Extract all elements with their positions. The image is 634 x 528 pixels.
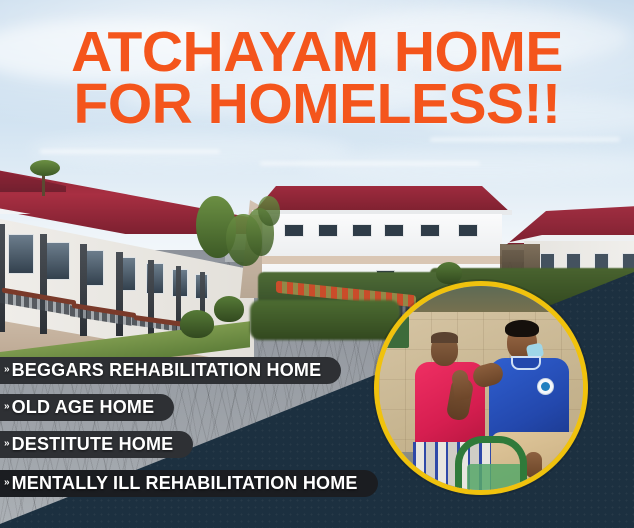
green-chair-frame bbox=[455, 436, 527, 495]
photo-background-strip bbox=[379, 286, 588, 312]
title-line-2: FOR HOMELESS!! bbox=[0, 78, 634, 130]
verandah-column bbox=[0, 224, 5, 332]
volunteer-collar bbox=[511, 356, 541, 370]
volunteer-hand bbox=[525, 452, 542, 478]
window bbox=[458, 224, 478, 237]
main-building-roof bbox=[254, 186, 510, 212]
window bbox=[46, 242, 70, 280]
tree bbox=[258, 196, 280, 226]
photo-green-panel bbox=[381, 316, 409, 348]
shrub bbox=[214, 296, 244, 322]
floor-divider-band bbox=[262, 256, 502, 264]
service-item-destitute-home[interactable]: » DESTITUTE HOME bbox=[0, 431, 193, 458]
service-item-label: OLD AGE HOME bbox=[12, 397, 155, 418]
window bbox=[384, 224, 404, 237]
double-chevron-right-icon: » bbox=[4, 478, 9, 488]
window bbox=[318, 224, 338, 237]
shrub-cluster bbox=[250, 300, 400, 340]
window bbox=[352, 224, 372, 237]
palm-crown bbox=[30, 160, 60, 176]
volunteer-logo-inner bbox=[541, 382, 550, 391]
page-title: ATCHAYAM HOME FOR HOMELESS!! bbox=[0, 26, 634, 130]
shrub bbox=[180, 310, 214, 338]
elderly-man-hair bbox=[431, 332, 458, 343]
verandah-column bbox=[40, 234, 47, 334]
cloud-wisp bbox=[260, 162, 480, 165]
window bbox=[284, 224, 304, 237]
double-chevron-right-icon: » bbox=[4, 439, 9, 449]
double-chevron-right-icon: » bbox=[4, 365, 9, 375]
volunteer-hair bbox=[505, 320, 539, 337]
cloud-shape bbox=[300, 150, 634, 180]
verandah-column bbox=[80, 244, 87, 336]
poster-canvas: ATCHAYAM HOME FOR HOMELESS!! » BEGGARS R… bbox=[0, 0, 634, 528]
double-chevron-right-icon: » bbox=[4, 402, 9, 412]
service-item-beggars-rehabilitation-home[interactable]: » BEGGARS REHABILITATION HOME bbox=[0, 357, 341, 384]
cloud-wisp bbox=[40, 150, 220, 153]
service-item-label: MENTALLY ILL REHABILITATION HOME bbox=[12, 473, 358, 494]
window bbox=[8, 234, 34, 274]
window bbox=[420, 224, 440, 237]
beneficiary-photo bbox=[374, 281, 588, 495]
service-item-old-age-home[interactable]: » OLD AGE HOME bbox=[0, 394, 174, 421]
cloud-wisp bbox=[430, 138, 620, 141]
cloud-shape bbox=[30, 132, 350, 166]
service-item-mentally-ill-rehabilitation-home[interactable]: » MENTALLY ILL REHABILITATION HOME bbox=[0, 470, 378, 497]
shrub bbox=[436, 262, 462, 284]
service-item-label: DESTITUTE HOME bbox=[12, 434, 174, 455]
service-item-label: BEGGARS REHABILITATION HOME bbox=[12, 360, 322, 381]
